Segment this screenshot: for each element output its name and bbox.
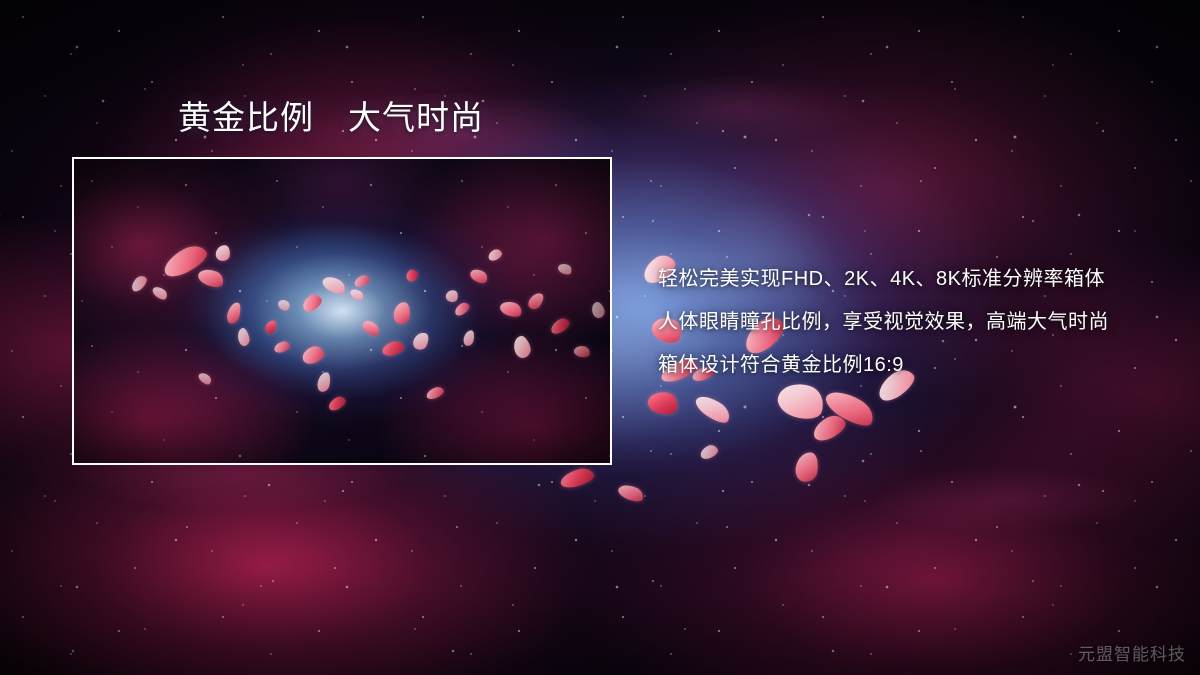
presentation-slide: 黄金比例 大气时尚 轻松完美实现FHD、2K、4K、8K标准分辨率箱体 人体眼睛…: [0, 0, 1200, 675]
body-line-3: 箱体设计符合黄金比例16:9: [658, 344, 1178, 387]
display-preview-frame: [72, 157, 612, 465]
petal: [646, 389, 680, 418]
petal: [616, 482, 645, 505]
page-title: 黄金比例 大气时尚: [178, 99, 484, 137]
body-line-2: 人体眼睛瞳孔比例，享受视觉效果，高端大气时尚: [658, 301, 1178, 344]
body-copy: 轻松完美实现FHD、2K、4K、8K标准分辨率箱体 人体眼睛瞳孔比例，享受视觉效…: [658, 258, 1178, 387]
display-preview-image: [74, 159, 610, 463]
petal: [794, 450, 821, 483]
petal: [698, 443, 719, 461]
petal: [809, 411, 848, 445]
display-preview-vignette: [74, 159, 610, 463]
watermark: 元盟智能科技: [1078, 640, 1186, 665]
petal: [821, 385, 878, 432]
petal: [692, 391, 734, 427]
body-line-1: 轻松完美实现FHD、2K、4K、8K标准分辨率箱体: [658, 258, 1178, 301]
petal: [558, 466, 595, 491]
